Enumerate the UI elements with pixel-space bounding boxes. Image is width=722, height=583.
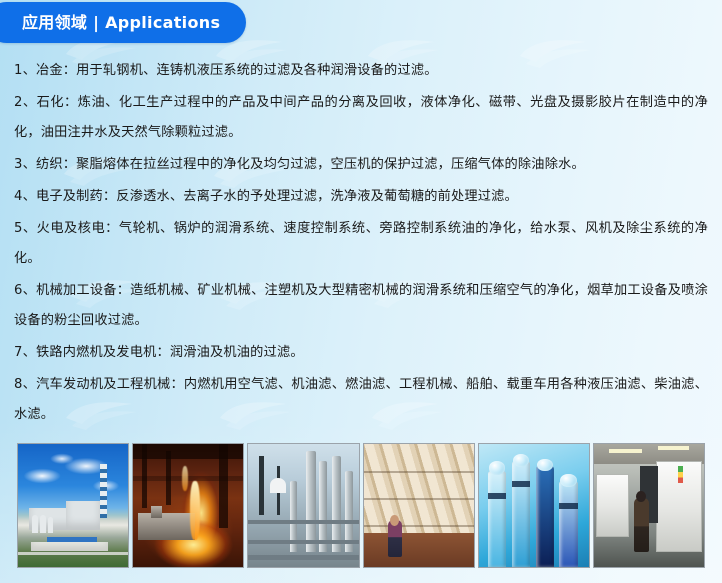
- page-header: 应用领域 | Applications: [0, 0, 722, 46]
- refinery-scene: [248, 444, 358, 567]
- page-title-pill: 应用领域 | Applications: [0, 2, 246, 43]
- gallery-image-power-plant: 火电厂: [17, 443, 129, 568]
- application-item: 7、铁路内燃机及发电机：润滑油及机油的过滤。: [14, 338, 708, 368]
- application-item: 4、电子及制药：反渗透水、去离子水的予处理过滤，洗净液及葡萄糖的前处理过滤。: [14, 182, 708, 212]
- page-title: 应用领域 | Applications: [22, 15, 220, 31]
- application-item: 2、石化：炼油、化工生产过程中的产品及中间产品的分离及回收，液体净化、磁带、光盘…: [14, 88, 708, 148]
- applications-page: 应用领域 | Applications 1、冶金：用于轧钢机、连铸机液压系统的过…: [0, 0, 722, 583]
- steel-furnace-scene: [133, 444, 243, 567]
- gallery-image-textile-mill: 纺织厂: [363, 443, 475, 568]
- gallery-image-steel-furnace: 冶金炼钢: [132, 443, 244, 568]
- application-item: 8、汽车发动机及工程机械：内燃机用空气滤、机油滤、燃油滤、工程机械、船舶、载重车…: [14, 370, 708, 430]
- application-item: 6、机械加工设备：造纸机械、矿业机械、注塑机及大型精密机械的润滑系统和压缩空气的…: [14, 276, 708, 336]
- lab-cylinders-scene: [479, 444, 589, 567]
- application-item: 3、纺织：聚脂熔体在拉丝过程中的净化及均匀过滤，空压机的保护过滤，压缩气体的除油…: [14, 150, 708, 180]
- textile-mill-scene: [364, 444, 474, 567]
- power-plant-scene: [18, 444, 128, 567]
- application-item: 1、冶金：用于轧钢机、连铸机液压系统的过滤及各种润滑设备的过滤。: [14, 56, 708, 86]
- gallery-image-lab-cylinders: 实验室量筒: [478, 443, 590, 568]
- gallery-image-refinery: 石化炼油: [247, 443, 359, 568]
- applications-list: 1、冶金：用于轧钢机、连铸机液压系统的过滤及各种润滑设备的过滤。 2、石化：炼油…: [14, 56, 708, 432]
- cnc-machining-scene: [594, 444, 704, 567]
- gallery-image-cnc-machining: 机械加工: [593, 443, 705, 568]
- application-gallery: 火电厂 冶金炼钢: [17, 443, 705, 568]
- application-item: 5、火电及核电：气轮机、锅炉的润滑系统、速度控制系统、旁路控制系统油的净化，给水…: [14, 214, 708, 274]
